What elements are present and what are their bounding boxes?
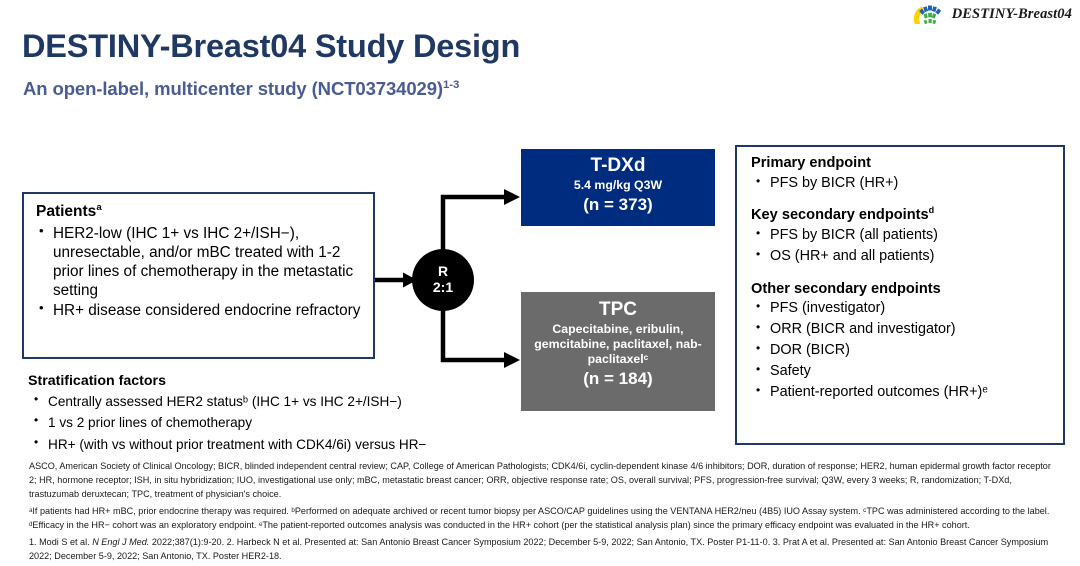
spacer (751, 194, 1057, 207)
spacer (751, 268, 1057, 281)
reference-part-2: 2022;387(1):9-20. 2. Harbeck N et al. Pr… (29, 537, 1048, 561)
randomization-label: R (438, 264, 448, 280)
treatment-arm-tpc: TPC Capecitabine, eribulin, gemcitabine,… (521, 292, 715, 411)
key-secondary-endpoint-group: Key secondary endpointsd PFS by BICR (al… (751, 207, 1057, 265)
destiny-breast04-logo-icon (913, 3, 947, 25)
patients-heading-text: Patients (36, 203, 96, 220)
randomization-node: R 2:1 (412, 249, 474, 311)
arm-sample-size: (n = 373) (521, 195, 715, 215)
primary-endpoint-heading: Primary endpoint (751, 155, 1057, 173)
abbreviations-footnote: ASCO, American Society of Clinical Oncol… (29, 460, 1055, 501)
other-secondary-endpoint-list: PFS (investigator) ORR (BICR and investi… (751, 299, 1057, 401)
other-secondary-endpoint-group: Other secondary endpoints PFS (investiga… (751, 281, 1057, 402)
page-subtitle: An open-label, multicenter study (NCT037… (23, 78, 459, 100)
list-item: Safety (751, 362, 1057, 380)
list-item: OS (HR+ and all patients) (751, 247, 1057, 265)
list-item: DOR (BICR) (751, 341, 1057, 359)
endpoints-box: Primary endpoint PFS by BICR (HR+) Key s… (735, 145, 1065, 445)
reference-journal: N Engl J Med. (92, 537, 149, 547)
reference-part-1: 1. Modi S et al. (29, 537, 92, 547)
primary-endpoint-list: PFS by BICR (HR+) (751, 174, 1057, 192)
key-secondary-heading-superscript: d (929, 206, 935, 216)
list-item: Patient-reported outcomes (HR+)ᵉ (751, 383, 1057, 401)
list-item: HER2-low (IHC 1+ vs IHC 2+/ISH−), unrese… (36, 224, 365, 301)
randomization-ratio: 2:1 (433, 280, 453, 296)
key-secondary-endpoint-list: PFS by BICR (all patients) OS (HR+ and a… (751, 226, 1057, 265)
logo-wordmark: DESTINY-Breast04 (952, 6, 1072, 23)
list-item: HR+ disease considered endocrine refract… (36, 301, 365, 320)
arm-dose: 5.4 mg/kg Q3W (521, 178, 715, 193)
patients-box: Patientsa HER2-low (IHC 1+ vs IHC 2+/ISH… (22, 192, 375, 359)
arm-sample-size: (n = 184) (521, 369, 715, 389)
primary-endpoint-group: Primary endpoint PFS by BICR (HR+) (751, 155, 1057, 192)
list-item: PFS (investigator) (751, 299, 1057, 317)
arm-name: TPC (521, 299, 715, 321)
patients-heading: Patientsa (36, 203, 365, 222)
references-footnote: 1. Modi S et al. N Engl J Med. 2022;387(… (29, 536, 1055, 564)
key-secondary-endpoint-heading: Key secondary endpointsd (751, 207, 1057, 225)
patients-bullet-list: HER2-low (IHC 1+ vs IHC 2+/ISH−), unrese… (36, 224, 365, 321)
page-subtitle-superscript: 1-3 (443, 79, 459, 91)
treatment-arm-t-dxd: T-DXd 5.4 mg/kg Q3W (n = 373) (521, 149, 715, 226)
key-secondary-heading-text: Key secondary endpoints (751, 207, 929, 223)
patients-heading-superscript: a (96, 202, 101, 213)
study-footnotes: ᵃIf patients had HR+ mBC, prior endocrin… (29, 505, 1055, 533)
other-secondary-endpoint-heading: Other secondary endpoints (751, 281, 1057, 299)
page-subtitle-text: An open-label, multicenter study (NCT037… (23, 78, 443, 99)
list-item: PFS by BICR (HR+) (751, 174, 1057, 192)
arm-drug-list: Capecitabine, eribulin, gemcitabine, pac… (521, 322, 715, 367)
brand-logo: DESTINY-Breast04 (913, 3, 1072, 25)
list-item: PFS by BICR (all patients) (751, 226, 1057, 244)
list-item: HR+ (with vs without prior treatment wit… (28, 436, 508, 454)
list-item: ORR (BICR and investigator) (751, 320, 1057, 338)
arm-name: T-DXd (521, 155, 715, 177)
page-title: DESTINY-Breast04 Study Design (22, 29, 520, 63)
